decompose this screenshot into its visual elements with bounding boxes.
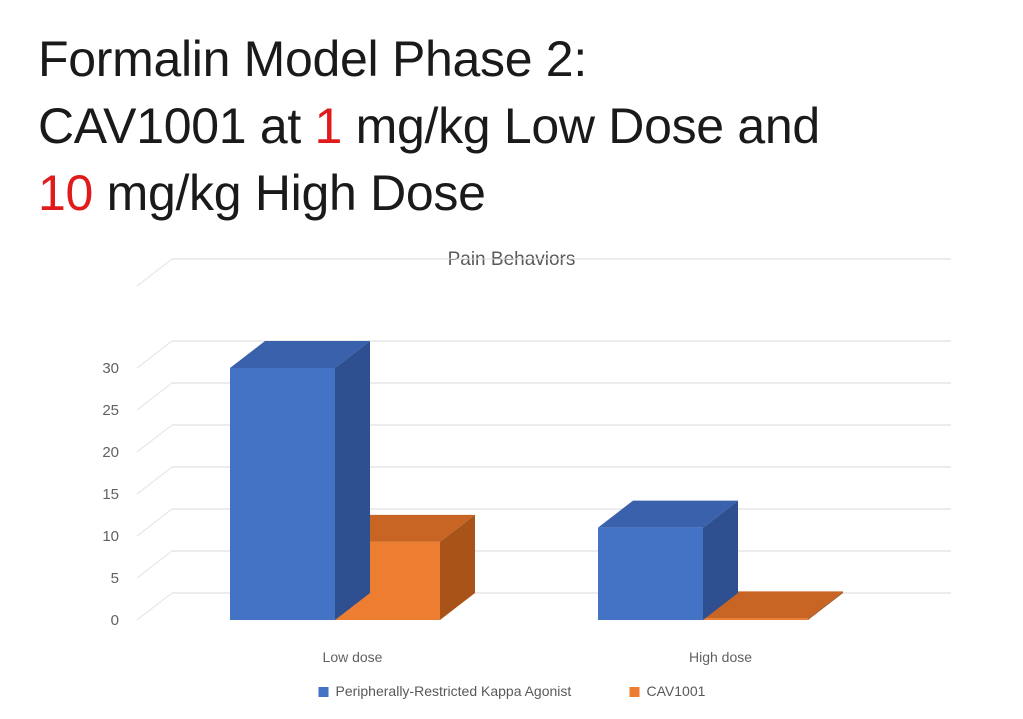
- gridline-depth-top: [137, 259, 172, 286]
- slide-canvas: Formalin Model Phase 2:CAV1001 at 1 mg/k…: [0, 0, 1023, 719]
- bar-side-face: [335, 341, 370, 620]
- x-category-label: Low dose: [323, 649, 383, 665]
- bar-front-face: [598, 528, 703, 620]
- gridline-depth-5: [137, 551, 172, 578]
- gridline-depth-20: [137, 425, 172, 452]
- bar-high-dose-series-1: [598, 501, 738, 620]
- y-tick-label: 20: [102, 444, 119, 461]
- gridline-depth-30: [137, 341, 172, 368]
- x-axis-category-labels: Low doseHigh dose: [323, 649, 753, 665]
- title-text-run: mg/kg Low Dose and: [342, 98, 820, 154]
- gridline-depth-0: [137, 593, 172, 620]
- chart-legend: Peripherally-Restricted Kappa AgonistCAV…: [319, 683, 706, 699]
- x-category-label: High dose: [689, 649, 752, 665]
- bar-low-dose-series-1: [230, 341, 370, 620]
- y-tick-label: 10: [102, 528, 119, 545]
- legend-swatch: [319, 687, 329, 697]
- y-tick-label: 25: [102, 402, 119, 419]
- title-accent-number: 10: [38, 165, 93, 221]
- slide-title-line-1: Formalin Model Phase 2:: [38, 26, 968, 93]
- legend-label: CAV1001: [647, 683, 706, 699]
- title-accent-number: 1: [315, 98, 343, 154]
- gridline-depth-10: [137, 509, 172, 536]
- gridline-depth-25: [137, 383, 172, 410]
- slide-title-line-2: CAV1001 at 1 mg/kg Low Dose and: [38, 93, 968, 160]
- legend-swatch: [630, 687, 640, 697]
- title-text-run: mg/kg High Dose: [93, 165, 486, 221]
- title-text-run: CAV1001 at: [38, 98, 315, 154]
- slide-title: Formalin Model Phase 2:CAV1001 at 1 mg/k…: [38, 26, 968, 227]
- legend-label: Peripherally-Restricted Kappa Agonist: [336, 683, 572, 699]
- bar-front-face: [230, 368, 335, 620]
- gridline-depth-15: [137, 467, 172, 494]
- y-tick-label: 15: [102, 486, 119, 503]
- bar-chart-3d: 051015202530Low doseHigh dosePeripherall…: [0, 238, 1023, 719]
- title-text-run: Formalin Model Phase 2:: [38, 31, 587, 87]
- y-tick-label: 0: [111, 612, 119, 629]
- chart-container: Pain Behaviors 051015202530Low doseHigh …: [0, 238, 1023, 719]
- slide-title-line-3: 10 mg/kg High Dose: [38, 160, 968, 227]
- y-tick-label: 5: [111, 570, 119, 587]
- bar-front-face: [703, 618, 808, 620]
- y-tick-label: 30: [102, 360, 119, 377]
- y-axis-tick-labels: 051015202530: [102, 360, 119, 629]
